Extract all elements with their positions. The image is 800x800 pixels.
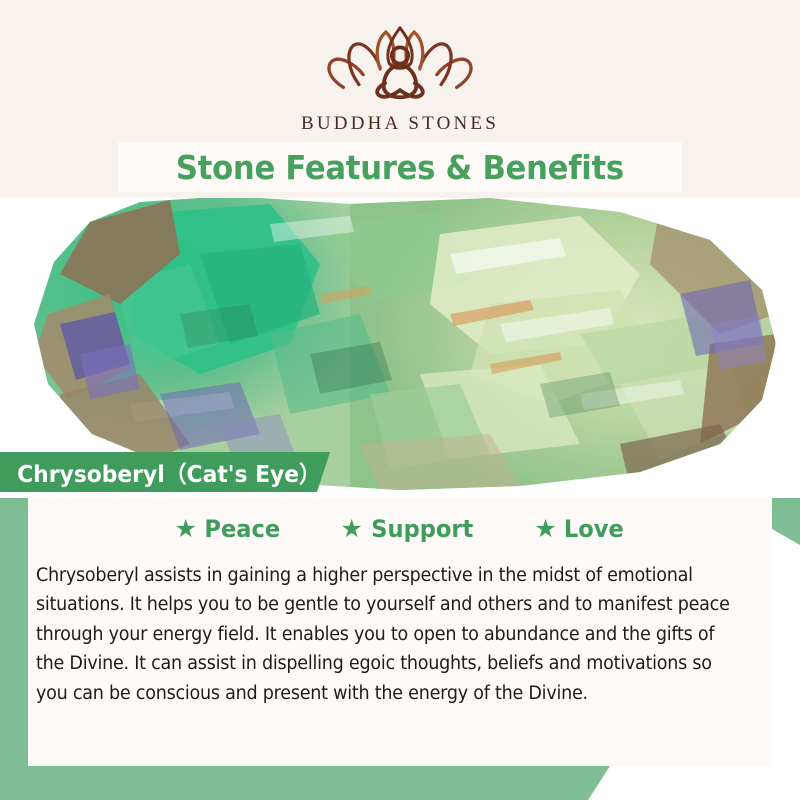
frame-band-bottom [0,766,610,800]
benefit-item-peace: ★ Peace [174,515,282,543]
star-icon: ★ [174,517,196,542]
benefit-label: Love [564,515,624,543]
benefit-item-support: ★ Support [340,515,476,543]
page-title-banner: Stone Features & Benefits [118,142,682,192]
benefit-item-love: ★ Love [534,515,625,543]
stone-photo [20,198,790,494]
benefit-label: Support [371,515,473,543]
benefit-label: Peace [204,515,280,543]
stone-description: Chrysoberyl assists in gaining a higher … [36,561,737,708]
page-title: Stone Features & Benefits [176,148,624,187]
stone-name-label: Chrysoberyl（Cat's Eye） [0,452,330,492]
benefits-row: ★ Peace ★ Support ★ Love [28,498,772,543]
brand-logo-block: BUDDHA STONES [0,22,800,135]
brand-name: BUDDHA STONES [301,113,499,135]
header-section: BUDDHA STONES Stone Features & Benefits [0,0,800,198]
stone-name-text: Chrysoberyl（Cat's Eye） [0,455,321,489]
star-icon: ★ [340,517,362,542]
content-panel: ★ Peace ★ Support ★ Love Chrysoberyl ass… [28,498,772,766]
lotus-meditation-figure-icon [315,22,485,106]
star-icon: ★ [534,517,556,542]
